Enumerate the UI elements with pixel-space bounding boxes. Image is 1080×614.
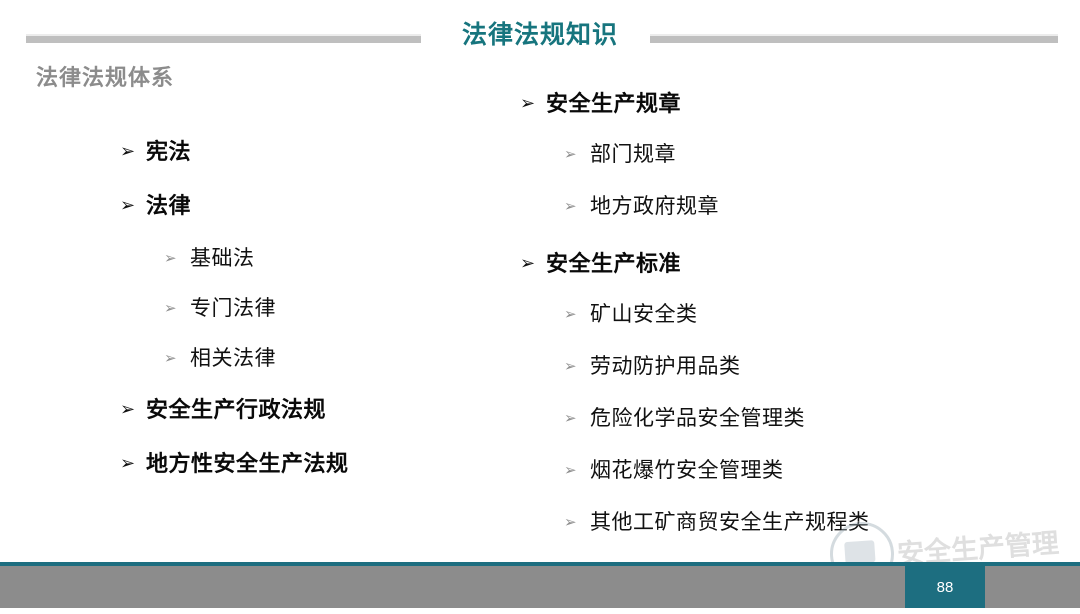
list-item: ➢ 烟花爆竹安全管理类	[520, 454, 1060, 484]
arrow-bullet-icon: ➢	[120, 196, 146, 214]
arrow-bullet-icon: ➢	[164, 251, 190, 266]
list-item: ➢ 相关法律	[120, 342, 520, 372]
slide-header: 法律法规知识	[0, 0, 1080, 62]
arrow-bullet-icon: ➢	[564, 359, 590, 374]
list-item-label: 地方政府规章	[590, 190, 1060, 220]
list-item-label: 法律	[146, 188, 520, 220]
list-item-label: 劳动防护用品类	[590, 350, 1060, 380]
list-item-label: 基础法	[190, 242, 520, 272]
arrow-bullet-icon: ➢	[164, 351, 190, 366]
arrow-bullet-icon: ➢	[564, 147, 590, 162]
arrow-bullet-icon: ➢	[520, 94, 546, 112]
list-item-label: 安全生产规章	[546, 86, 1060, 118]
list-item-label: 相关法律	[190, 342, 520, 372]
list-item-label: 部门规章	[590, 138, 1060, 168]
arrow-bullet-icon: ➢	[164, 301, 190, 316]
page-number: 88	[905, 566, 985, 608]
list-item: ➢ 安全生产规章	[520, 86, 1060, 118]
list-item-label: 危险化学品安全管理类	[590, 402, 1060, 432]
list-item: ➢ 部门规章	[520, 138, 1060, 168]
list-item: ➢ 法律	[120, 188, 520, 220]
list-item: ➢ 地方政府规章	[520, 190, 1060, 220]
list-item-label: 其他工矿商贸安全生产规程类	[590, 506, 1060, 536]
list-item-label: 矿山安全类	[590, 298, 1060, 328]
arrow-bullet-icon: ➢	[120, 454, 146, 472]
arrow-bullet-icon: ➢	[564, 307, 590, 322]
right-column: ➢ 安全生产规章 ➢ 部门规章 ➢ 地方政府规章 ➢ 安全生产标准 ➢ 矿山安全…	[520, 84, 1060, 558]
list-item: ➢ 劳动防护用品类	[520, 350, 1060, 380]
list-item: ➢ 地方性安全生产法规	[120, 446, 520, 478]
arrow-bullet-icon: ➢	[120, 400, 146, 418]
list-item: ➢ 危险化学品安全管理类	[520, 402, 1060, 432]
list-item-label: 宪法	[146, 134, 520, 166]
list-item-label: 专门法律	[190, 292, 520, 322]
content-columns: ➢ 宪法 ➢ 法律 ➢ 基础法 ➢ 专门法律 ➢ 相关法律 ➢ 安全生产行	[0, 84, 1080, 558]
page-title: 法律法规知识	[0, 18, 1080, 52]
list-item-label: 安全生产标准	[546, 246, 1060, 278]
list-item-label: 安全生产行政法规	[146, 392, 520, 424]
list-item: ➢ 基础法	[120, 242, 520, 272]
list-item: ➢ 安全生产标准	[520, 246, 1060, 278]
left-column: ➢ 宪法 ➢ 法律 ➢ 基础法 ➢ 专门法律 ➢ 相关法律 ➢ 安全生产行	[120, 84, 520, 558]
list-item: ➢ 专门法律	[120, 292, 520, 322]
list-item: ➢ 矿山安全类	[520, 298, 1060, 328]
list-item: ➢ 其他工矿商贸安全生产规程类	[520, 506, 1060, 536]
arrow-bullet-icon: ➢	[564, 515, 590, 530]
list-item: ➢ 安全生产行政法规	[120, 392, 520, 424]
list-item-label: 烟花爆竹安全管理类	[590, 454, 1060, 484]
list-item: ➢ 宪法	[120, 134, 520, 166]
arrow-bullet-icon: ➢	[564, 199, 590, 214]
list-item-label: 地方性安全生产法规	[146, 446, 520, 478]
arrow-bullet-icon: ➢	[520, 254, 546, 272]
arrow-bullet-icon: ➢	[564, 463, 590, 478]
slide-canvas: 法律法规知识 法律法规体系 ➢ 宪法 ➢ 法律 ➢ 基础法 ➢ 专门法律 ➢	[0, 0, 1080, 608]
arrow-bullet-icon: ➢	[564, 411, 590, 426]
arrow-bullet-icon: ➢	[120, 142, 146, 160]
